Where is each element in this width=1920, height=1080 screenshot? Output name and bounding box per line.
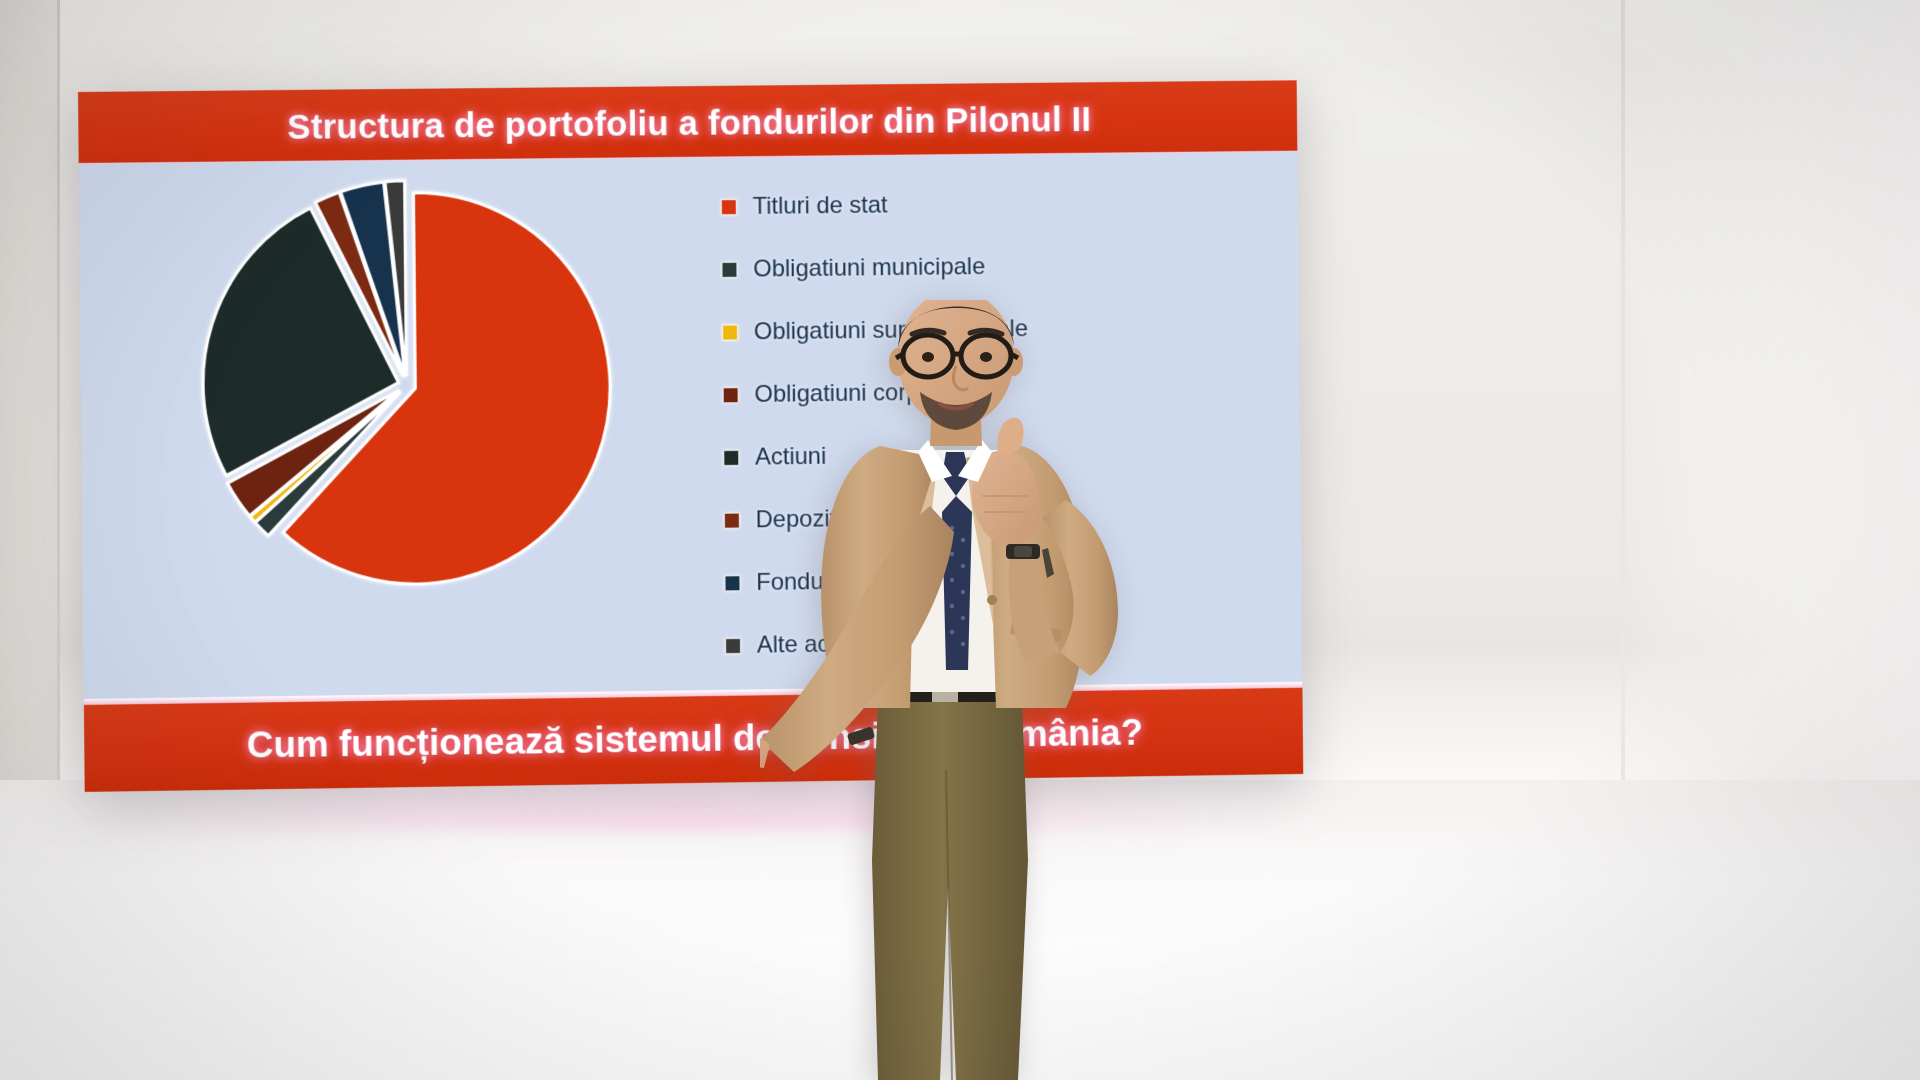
presenter-tie [942,496,972,670]
legend-item-0: Titluri de stat [721,171,1195,239]
legend-label-1: Obligatiuni municipale [753,253,985,283]
pie-chart-canvas [174,168,656,603]
legend-swatch-icon-2 [722,324,738,340]
legend-swatch-icon-6 [724,575,740,591]
presenter-figure [760,300,1180,1080]
legend-swatch-icon-1 [721,261,737,277]
legend-swatch-icon-3 [723,387,739,403]
studio-right-wall-seam [1621,0,1625,870]
legend-swatch-icon-7 [725,637,741,653]
legend-swatch-icon-5 [724,512,740,528]
slide-title: Structura de portofoliu a fondurilor din… [287,100,1091,148]
legend-label-0: Titluri de stat [752,191,887,220]
pie-chart-svg [174,168,656,603]
studio-left-wall [0,0,60,860]
legend-swatch-icon-0 [721,199,737,215]
presenter [760,300,1180,1080]
legend-item-1: Obligatiuni municipale [721,233,1195,301]
slide-title-band: Structura de portofoliu a fondurilor din… [78,80,1297,164]
presenter-right-hand [972,418,1039,546]
pie-chart [174,168,656,603]
legend-swatch-icon-4 [723,449,739,465]
